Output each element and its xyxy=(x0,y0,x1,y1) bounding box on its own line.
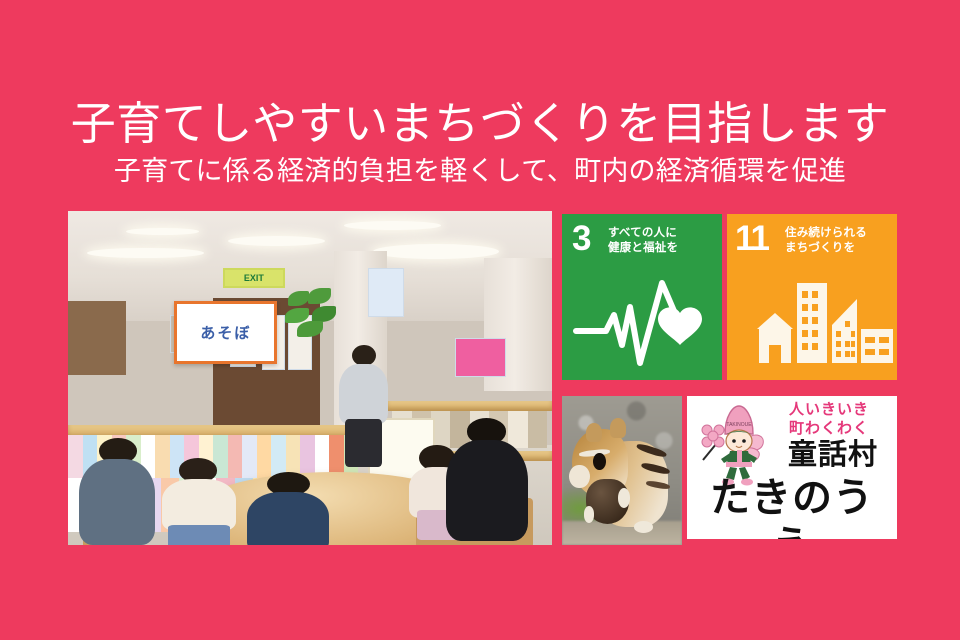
page-subtitle: 子育てに係る経済的負担を軽くして、町内の経済循環を促進 xyxy=(0,155,960,187)
potted-plant xyxy=(281,288,349,345)
sdg-badge-3-line2: 健康と福祉を xyxy=(608,241,678,256)
exit-sign: EXIT xyxy=(223,268,285,289)
notice-poster xyxy=(368,268,404,317)
sdg-badge-3-number: 3 xyxy=(572,220,590,258)
chipmunk-photo: 木の実をかかえるシマリス xyxy=(562,396,682,545)
chipmunk-paw xyxy=(584,506,595,522)
asobo-sign-label: あそぼ xyxy=(200,322,251,343)
exit-sign-label: EXIT xyxy=(244,273,264,283)
chipmunk-muzzle xyxy=(569,465,589,489)
asobo-signboard: あそぼ xyxy=(174,301,277,364)
sdg-badge-11-text: 住み続けられる まちづくりを xyxy=(785,226,867,256)
town-logo-inner: TAKINOUE 人いきいき xyxy=(687,396,897,539)
sdg-badge-11-line2: まちづくりを xyxy=(785,241,867,256)
town-logo-tagline-line2: 町わくわく xyxy=(765,419,893,438)
heartbeat-icon xyxy=(562,277,722,372)
sdg-badge-11-number: 11 xyxy=(735,220,768,258)
standing-adult xyxy=(334,345,392,465)
town-logo-name-main: たきのうえ xyxy=(691,474,893,539)
ceiling-light xyxy=(228,236,325,246)
chipmunk-ear xyxy=(610,418,626,437)
chipmunk-ear xyxy=(586,423,602,442)
seated-child xyxy=(160,458,237,545)
seated-adult xyxy=(446,418,528,538)
town-logo-tagline: 人いきいき 町わくわく xyxy=(765,400,893,438)
town-logo: TAKINOUE 人いきいき xyxy=(687,396,897,539)
buildings-icon xyxy=(727,277,897,372)
town-logo-name-mid: 童話村 xyxy=(775,440,891,470)
notice-poster xyxy=(455,338,505,377)
seated-adult xyxy=(78,438,160,545)
sdg-badge-3-text: すべての人に 健康と福祉を xyxy=(608,226,678,256)
sdg-badge-11-line1: 住み続けられる xyxy=(785,226,867,241)
seated-child xyxy=(247,472,329,545)
town-logo-tagline-line1: 人いきいき xyxy=(765,400,893,419)
svg-text:TAKINOUE: TAKINOUE xyxy=(726,422,752,428)
ceiling-light xyxy=(126,228,199,235)
back-wall xyxy=(68,301,126,374)
page-title: 子育てしやすいまちづくりを目指します xyxy=(0,98,960,150)
sdg-badge-3: 3 すべての人に 健康と福祉を xyxy=(562,214,722,380)
library-photo: EXIT あそぼ xyxy=(68,211,552,545)
sdg-badge-3-line1: すべての人に xyxy=(608,226,678,241)
book-shelf xyxy=(387,401,552,411)
sdg-badge-11: 11 住み続けられる まちづくりを xyxy=(727,214,897,380)
slide-canvas: 子育てしやすいまちづくりを目指します 子育てに係る経済的負担を軽くして、町内の経… xyxy=(0,0,960,640)
